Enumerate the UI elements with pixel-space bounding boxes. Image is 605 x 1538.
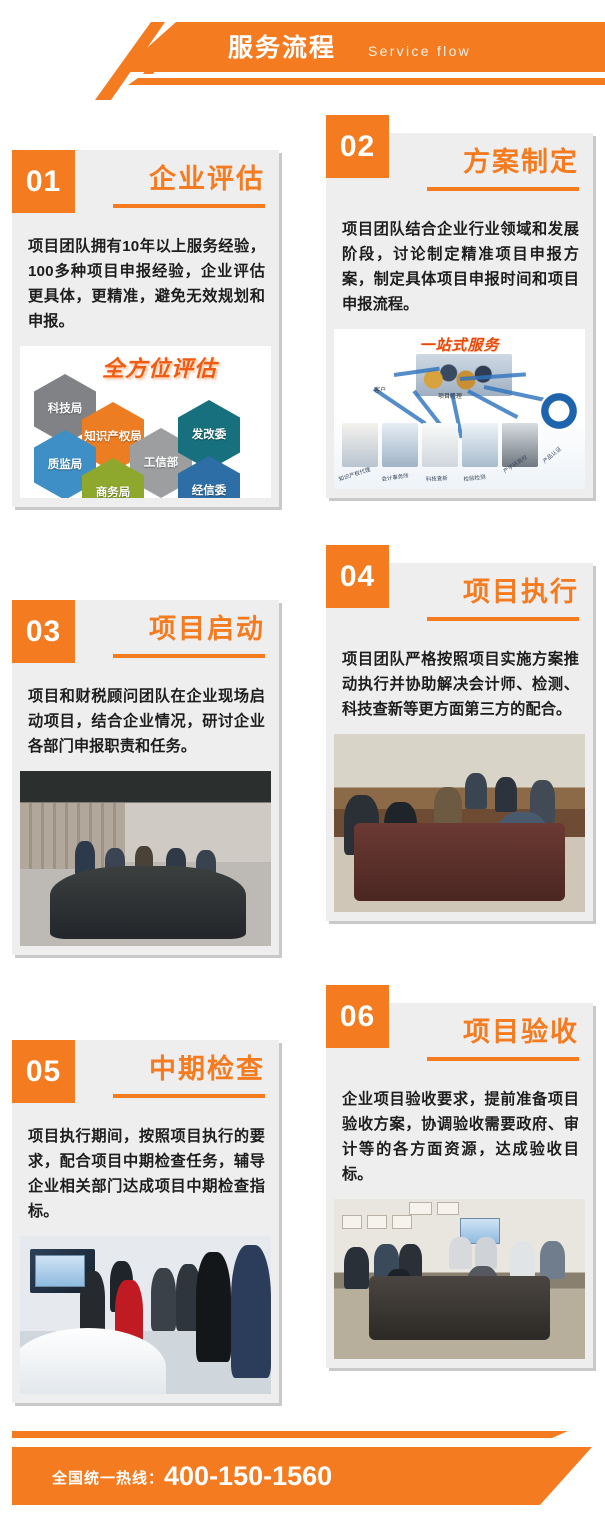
card-description: 项目团队严格按照项目实施方案推动执行并协助解决会计师、检测、科技查新等更方面第三… [326,641,593,734]
person-silhouette [465,1266,500,1327]
person-silhouette [475,1237,498,1269]
person-silhouette [434,787,462,833]
person-silhouette [120,869,150,915]
iso-certification-badge: ISO [539,391,579,431]
person-silhouette [495,777,518,813]
header-banner-bar [120,22,605,72]
hexagon-diagram: 全方位评估 科技局 知识产权局 质监局 工信部 商务局 发改委 经信委 [20,346,271,498]
card-description: 项目执行期间，按照项目执行的要求，配合项目中期检查任务，辅导企业相关部门达成项目… [12,1118,279,1236]
certificate-frame [437,1202,460,1215]
person-silhouette [449,1237,472,1269]
person-silhouette [510,1241,535,1279]
page-footer: 全国统一热线：400-150-1560 [0,1403,605,1538]
card-number-badge: 03 [12,600,75,663]
person-silhouette [75,841,95,876]
person-silhouette [196,850,216,882]
person-silhouette [151,1268,176,1331]
person-silhouette [540,1241,565,1279]
photo-conference-room [334,1199,585,1359]
flow-diagram-title: 一站式服务 [419,334,499,355]
card-title: 中期检查 [149,1052,265,1086]
photo-meeting-room [20,771,271,946]
person-silhouette [344,795,379,856]
card-media [326,1199,593,1368]
person-silhouette [196,1252,231,1363]
card-title: 方案制定 [463,145,579,179]
card-title: 企业评估 [149,162,265,196]
person-silhouette [465,773,488,809]
card-number-badge: 04 [326,545,389,608]
flow-node-manager: 项目经理 [438,391,462,400]
flow-tile-3 [422,423,458,467]
person-silhouette [135,846,153,876]
person-silhouette [384,1269,414,1323]
card-number-badge: 06 [326,985,389,1048]
card-description: 项目团队结合企业行业领域和发展阶段，讨论制定精准项目申报方案，制定具体项目申报时… [326,211,593,329]
footer-hotline-number: 400-150-1560 [164,1461,332,1491]
card-media [326,734,593,921]
card-description: 项目团队拥有10年以上服务经验，100多种项目申报经验，企业评估更具体，更精准，… [12,228,279,346]
footer-hotline: 全国统一热线：400-150-1560 [52,1461,332,1494]
certificate-frame [392,1215,412,1229]
flow-label-6: 产品认证 [541,445,563,465]
card-media: 一站式服务 客户 项目经理 ISO 知识产权代理 会计事务所 科技查新 检验检测… [326,329,593,498]
card-title: 项目启动 [149,612,265,646]
card-title-rule [113,204,265,208]
flow-node-customer: 客户 [374,385,386,394]
process-card-05[interactable]: 05 中期检查 项目执行期间，按照项目执行的要求，配合项目中期检查任务，辅导企业… [12,1040,279,1403]
person-silhouette [374,1244,399,1282]
card-media: 全方位评估 科技局 知识产权局 质监局 工信部 商务局 发改委 经信委 [12,346,279,507]
certificate-frame [409,1202,432,1215]
one-stop-service-diagram: 一站式服务 客户 项目经理 ISO 知识产权代理 会计事务所 科技查新 检验检测… [334,329,585,489]
person-silhouette [384,802,417,855]
page-header: 服务流程 Service flow [0,0,605,100]
card-title-rule [113,1094,265,1098]
header-title-cn: 服务流程 [228,32,336,64]
hexagon-diagram-title: 全方位评估 [102,351,217,383]
person-silhouette [166,848,186,880]
process-card-03[interactable]: 03 项目启动 项目和财税顾问团队在企业现场启动项目，结合企业情况，研讨企业各部… [12,600,279,955]
card-title: 项目执行 [463,575,579,609]
process-card-04[interactable]: 04 项目执行 项目团队严格按照项目实施方案推动执行并协助解决会计师、检测、科技… [326,563,593,921]
process-card-06[interactable]: 06 项目验收 企业项目验收要求，提前准备项目验收方案，协调验收需要政府、审计等… [326,1003,593,1368]
photo-office-meeting [334,734,585,912]
photo-showroom-visit [20,1236,271,1394]
person-silhouette-red [115,1280,143,1356]
card-media [12,1236,279,1403]
process-card-02[interactable]: 02 方案制定 项目团队结合企业行业领域和发展阶段，讨论制定精准项目申报方案，制… [326,133,593,498]
display-screen [35,1255,85,1287]
card-title-rule [427,187,579,191]
card-title-rule [427,617,579,621]
card-description: 项目和财税顾问团队在企业现场启动项目，结合企业情况，研讨企业各部门申报职责和任务… [12,678,279,771]
flow-label-2: 会计事务所 [381,471,409,483]
card-media [12,771,279,955]
flow-label-4: 检验检测 [463,473,486,483]
person-silhouette [105,848,125,880]
header-title-en: Service flow [368,40,471,62]
flow-label-1: 知识产权代理 [338,465,372,483]
footer-hotline-label: 全国统一热线： [52,1470,164,1487]
person-silhouette [231,1245,271,1378]
certificate-frame [367,1215,387,1229]
flow-label-3: 科技查新 [426,474,448,483]
flow-tile-1 [342,423,378,467]
process-card-01[interactable]: 01 企业评估 项目团队拥有10年以上服务经验，100多种项目申报经验，企业评估… [12,150,279,507]
person-silhouette [85,873,113,915]
card-description: 企业项目验收要求，提前准备项目验收方案，协调验收需要政府、审计等的各方面资源，达… [326,1081,593,1199]
person-silhouette [344,1247,369,1289]
card-title: 项目验收 [463,1015,579,1049]
card-number-badge: 01 [12,150,75,213]
card-number-badge: 05 [12,1040,75,1103]
certificate-frame [342,1215,362,1229]
card-title-rule [427,1057,579,1061]
flow-tile-2 [382,423,418,467]
header-underline-bar [128,78,605,85]
person-silhouette [495,812,550,883]
card-number-badge: 02 [326,115,389,178]
card-title-rule [113,654,265,658]
footer-thin-bar [12,1431,568,1438]
flow-tile-4 [462,423,498,467]
